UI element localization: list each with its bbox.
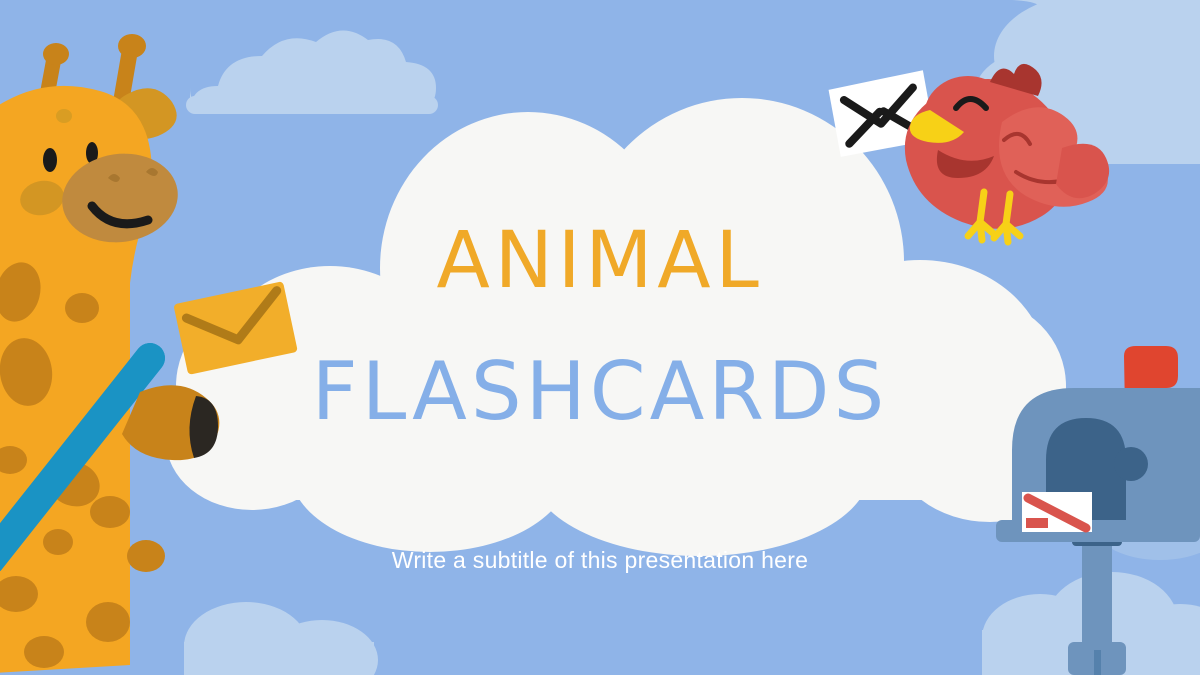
bird-with-letter-illustration [828,64,1110,242]
envelope-icon [173,281,298,375]
giraffe-illustration [0,34,298,675]
mailbox-post-seam [1094,650,1101,675]
letter-icon [1022,492,1092,532]
mailbox-illustration [996,346,1200,675]
slide-artwork [0,0,1200,675]
mailbox-letter-stamp [1026,518,1048,528]
giraffe-eye-left [43,148,57,172]
giraffe-hoof [189,396,218,458]
giraffe-forehead-bump [56,109,72,123]
mailbox-flag-knob [1114,447,1148,481]
giraffe-envelope-body [173,281,298,375]
presentation-slide: ANIMAL FLASHCARDS Write a subtitle of th… [0,0,1200,675]
